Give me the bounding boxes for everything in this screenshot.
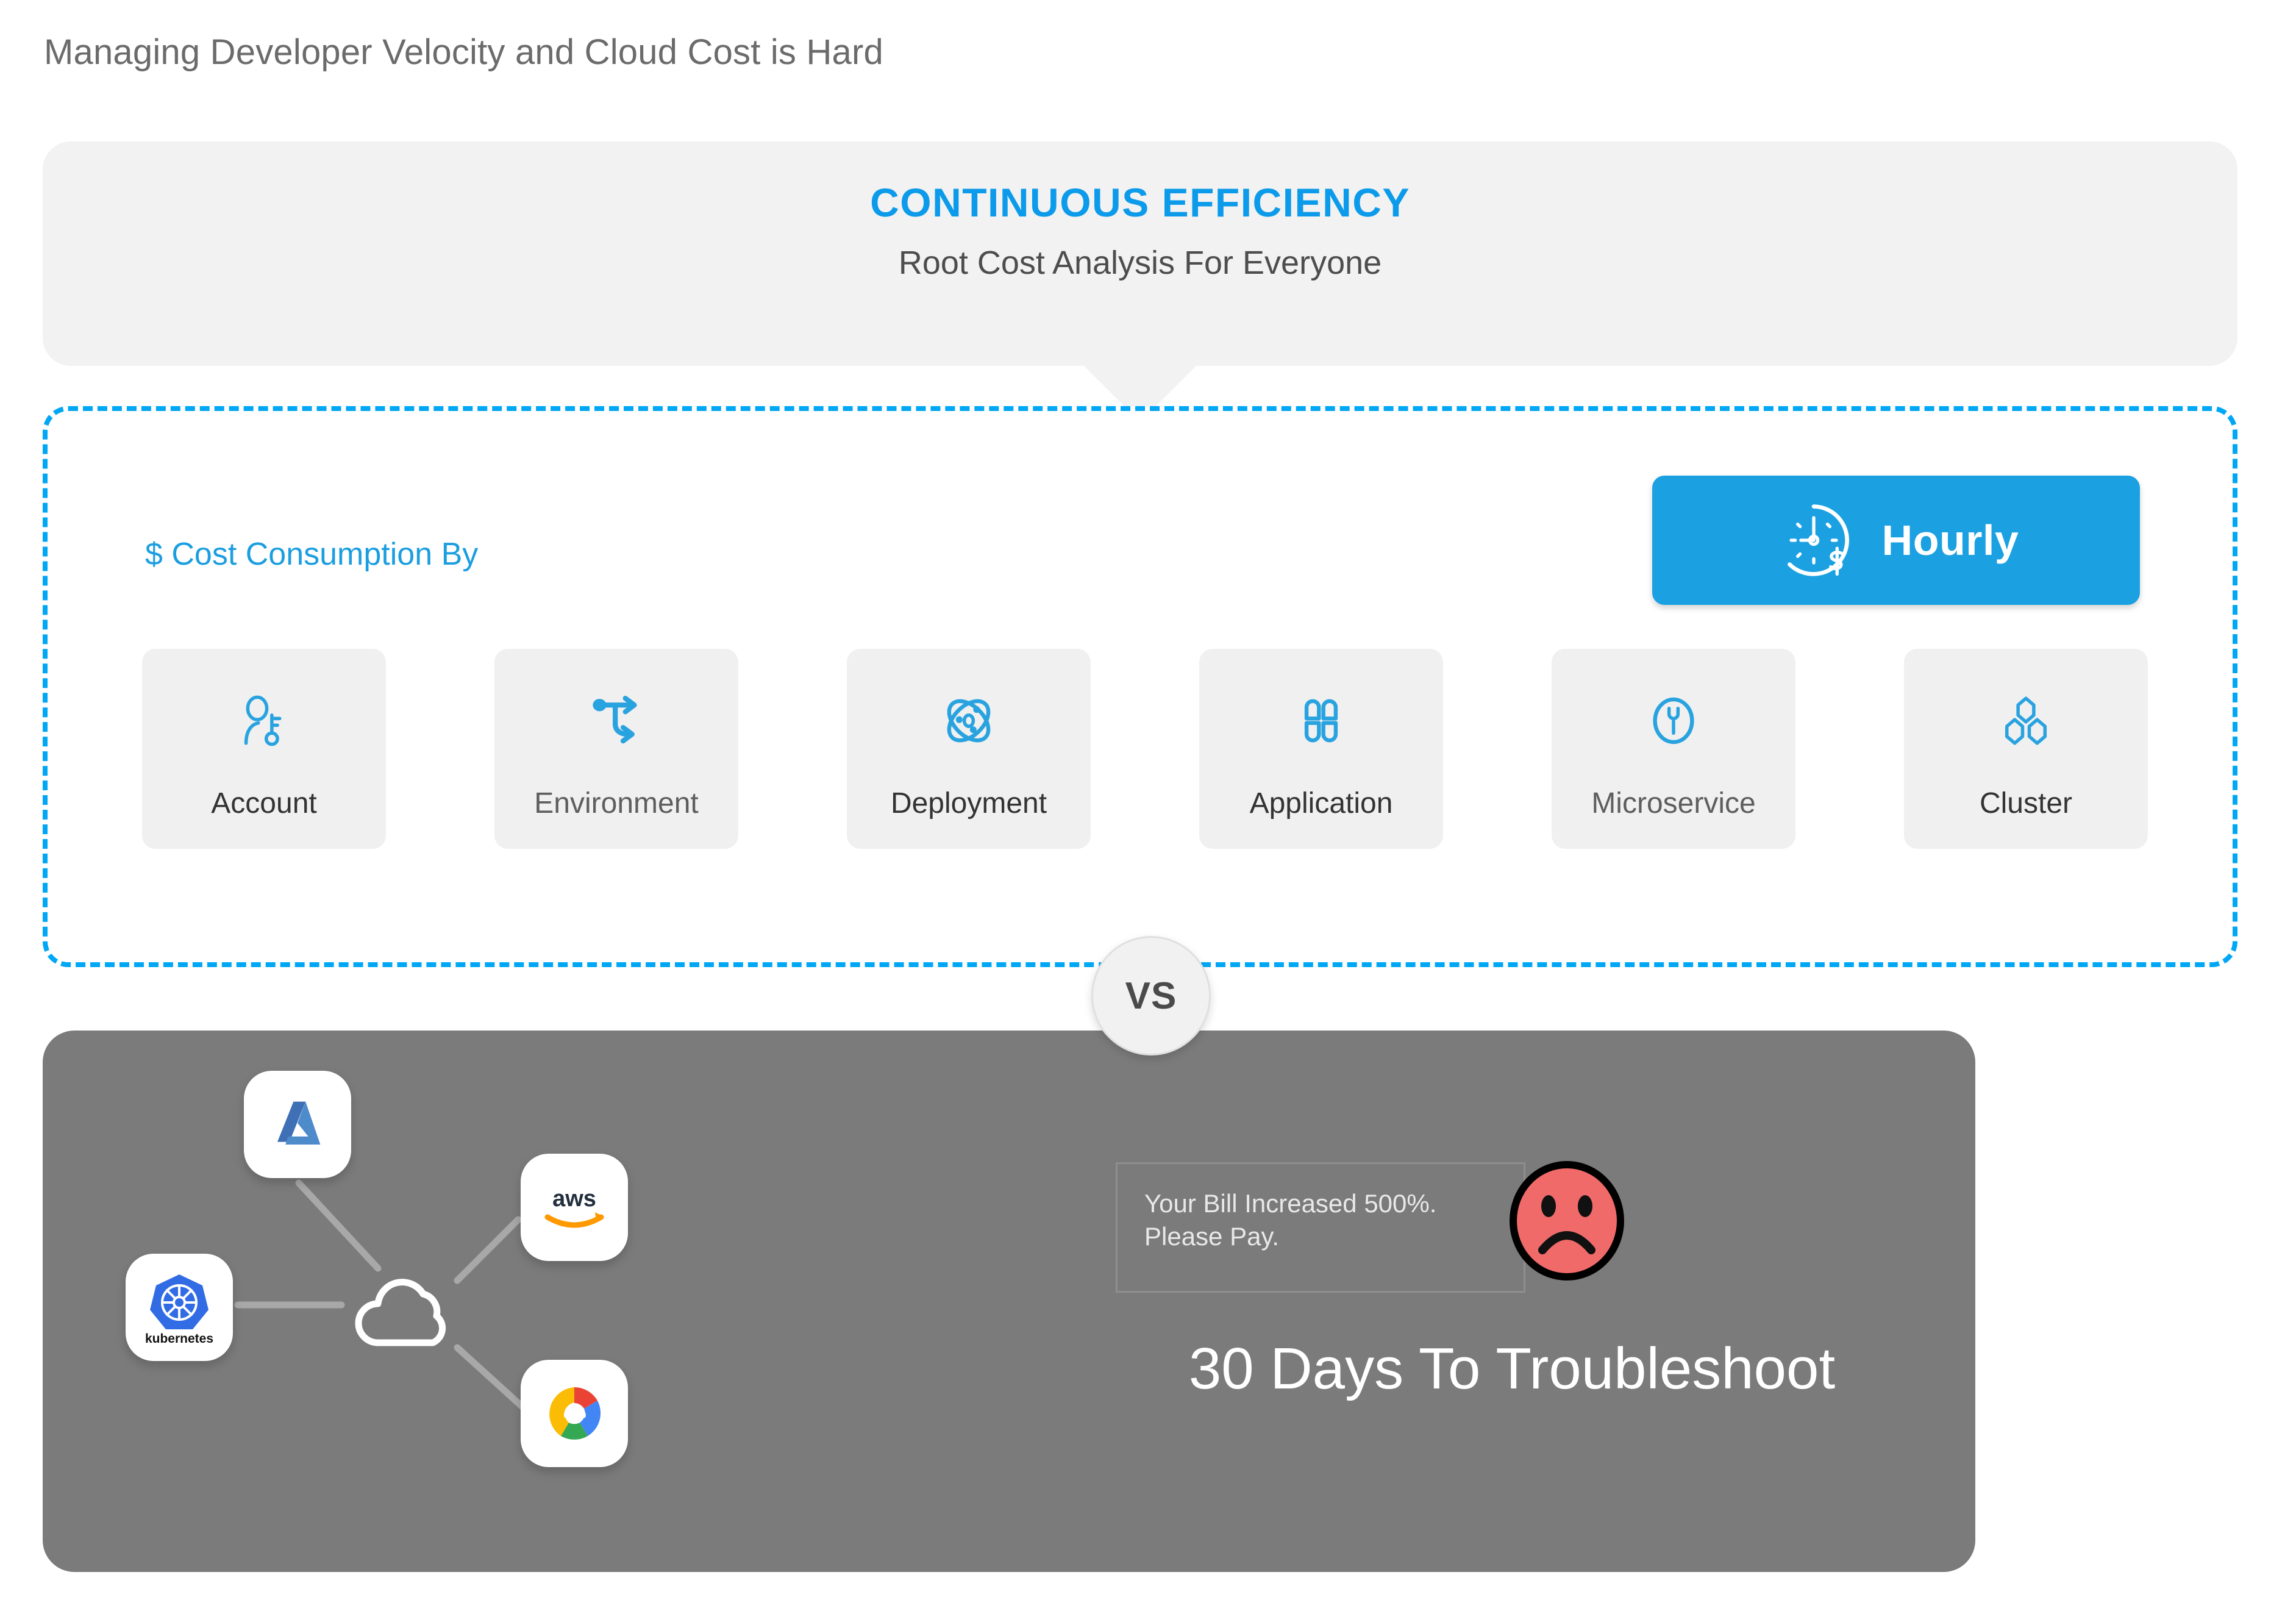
continuous-efficiency-card: CONTINUOUS EFFICIENCY Root Cost Analysis… [43, 141, 2237, 366]
google-cloud-logo [538, 1380, 611, 1447]
tile-deployment-label: Deployment [891, 787, 1047, 820]
tile-application-label: Application [1250, 787, 1393, 820]
card-subtitle: Root Cost Analysis For Everyone [43, 244, 2237, 282]
azure-logo-chip [244, 1071, 351, 1178]
aws-logo-chip: aws [521, 1154, 628, 1261]
cost-consumption-panel: $ Cost Consumption By Hourly [43, 406, 2237, 967]
tile-account-label: Account [211, 787, 316, 820]
svg-text:kubernetes: kubernetes [145, 1332, 213, 1346]
sad-face-icon [1506, 1160, 1628, 1282]
azure-logo [264, 1091, 331, 1158]
cloud-outline-icon [346, 1262, 468, 1355]
hourly-button-label: Hourly [1882, 516, 2019, 565]
tile-environment-label: Environment [534, 787, 698, 820]
google-cloud-logo-chip [521, 1360, 628, 1467]
four-petal-grid-icon [1293, 693, 1349, 749]
troubleshoot-headline: 30 Days To Troubleshoot [1079, 1335, 1945, 1402]
vs-badge: VS [1091, 936, 1211, 1056]
hexagon-cluster-icon [1998, 693, 2054, 749]
user-key-icon [236, 693, 292, 749]
kubernetes-logo: kubernetes [137, 1265, 222, 1350]
tile-cluster[interactable]: Cluster [1904, 649, 2148, 849]
bill-notice-line-1: Your Bill Increased 500%. [1144, 1187, 1497, 1220]
branch-arrows-icon [588, 693, 644, 749]
hourly-button[interactable]: Hourly [1652, 476, 2140, 605]
clock-dollar-icon [1774, 500, 1854, 581]
cloud-provider-diagram: aws [116, 1061, 762, 1543]
page-title: Managing Developer Velocity and Cloud Co… [44, 32, 883, 73]
atom-orbit-icon [941, 693, 997, 749]
aws-logo: aws [537, 1179, 612, 1235]
tile-microservice-label: Microservice [1591, 787, 1755, 820]
tile-application[interactable]: Application [1199, 649, 1443, 849]
bill-notice-line-2: Please Pay. [1144, 1220, 1497, 1253]
tile-environment[interactable]: Environment [494, 649, 738, 849]
card-title: CONTINUOUS EFFICIENCY [43, 179, 2237, 226]
bill-notice-box: Your Bill Increased 500%. Please Pay. [1116, 1162, 1525, 1293]
category-tile-row: Account Environment [142, 649, 2148, 849]
problem-panel: aws [43, 1031, 1975, 1572]
infographic-root: Managing Developer Velocity and Cloud Co… [0, 0, 2296, 1622]
svg-text:aws: aws [552, 1186, 596, 1212]
tile-cluster-label: Cluster [1980, 787, 2072, 820]
tile-account[interactable]: Account [142, 649, 386, 849]
kubernetes-logo-chip: kubernetes [126, 1254, 233, 1361]
tile-microservice[interactable]: Microservice [1552, 649, 1795, 849]
cost-consumption-label: $ Cost Consumption By [145, 536, 478, 573]
tile-deployment[interactable]: Deployment [847, 649, 1091, 849]
wrench-circle-icon [1645, 693, 1702, 749]
